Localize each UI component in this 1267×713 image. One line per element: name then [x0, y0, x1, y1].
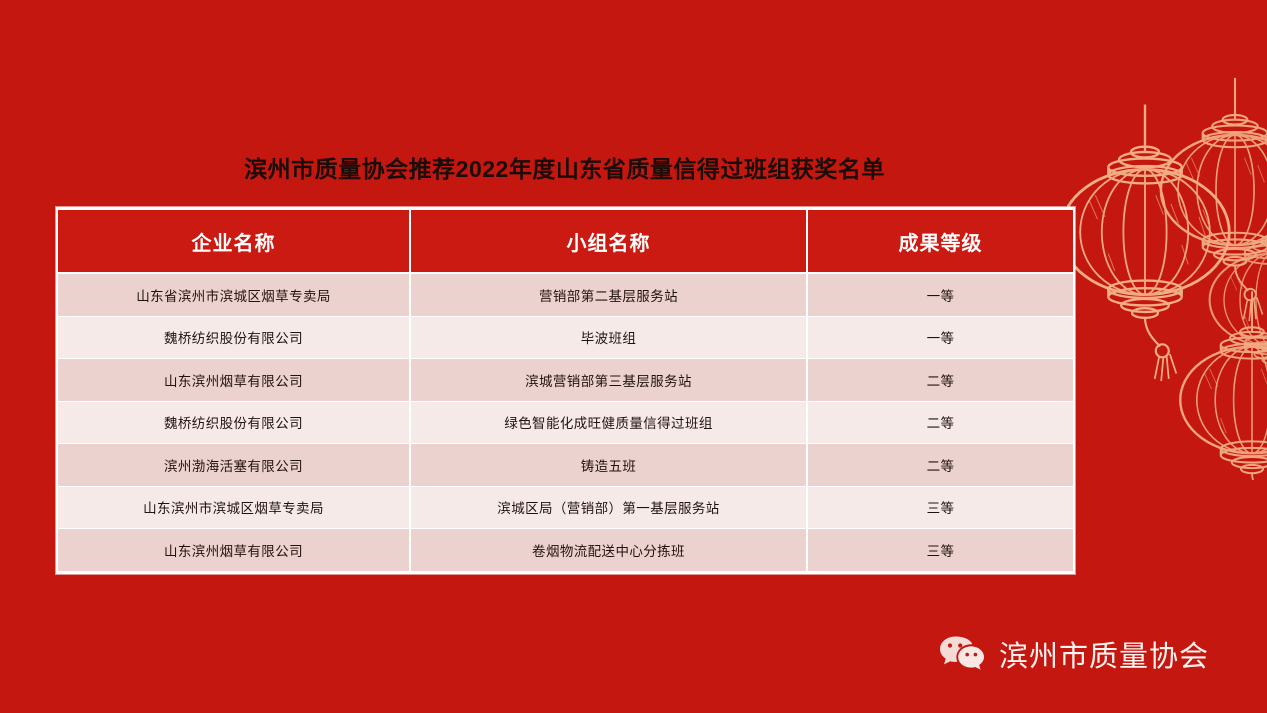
cell-team: 卷烟物流配送中心分拣班 — [410, 529, 807, 573]
cell-team: 营销部第二基层服务站 — [410, 273, 807, 316]
table-body: 山东省滨州市滨城区烟草专卖局 营销部第二基层服务站 一等 魏桥纺织股份有限公司 … — [57, 273, 1074, 572]
cell-team: 绿色智能化成旺健质量信得过班组 — [410, 401, 807, 444]
cell-grade: 二等 — [807, 401, 1074, 444]
award-list-table: 企业名称 小组名称 成果等级 山东省滨州市滨城区烟草专卖局 营销部第二基层服务站… — [56, 207, 1075, 574]
column-header-team: 小组名称 — [410, 209, 807, 274]
cell-team: 毕波班组 — [410, 316, 807, 359]
cell-grade: 三等 — [807, 486, 1074, 529]
cell-grade: 二等 — [807, 444, 1074, 487]
table-row: 山东滨州市滨城区烟草专卖局 滨城区局（营销部）第一基层服务站 三等 — [57, 486, 1074, 529]
cell-company: 魏桥纺织股份有限公司 — [57, 316, 410, 359]
cell-grade: 一等 — [807, 273, 1074, 316]
column-header-company: 企业名称 — [57, 209, 410, 274]
cell-company: 魏桥纺织股份有限公司 — [57, 401, 410, 444]
footer-brand: 滨州市质量协会 — [939, 633, 1209, 675]
cell-company: 滨州渤海活塞有限公司 — [57, 444, 410, 487]
table-row: 魏桥纺织股份有限公司 毕波班组 一等 — [57, 316, 1074, 359]
chinese-lanterns-decoration — [1067, 0, 1267, 480]
slide-canvas: 滨州市质量协会推荐2022年度山东省质量信得过班组获奖名单 企业名称 小组名称 … — [0, 0, 1267, 713]
cell-grade: 三等 — [807, 529, 1074, 573]
cell-company: 山东滨州烟草有限公司 — [57, 359, 410, 402]
cell-team: 滨城营销部第三基层服务站 — [410, 359, 807, 402]
brand-name: 滨州市质量协会 — [999, 633, 1209, 675]
cell-team: 滨城区局（营销部）第一基层服务站 — [410, 486, 807, 529]
table-row: 魏桥纺织股份有限公司 绿色智能化成旺健质量信得过班组 二等 — [57, 401, 1074, 444]
page-title: 滨州市质量协会推荐2022年度山东省质量信得过班组获奖名单 — [56, 150, 1073, 184]
table-row: 山东滨州烟草有限公司 卷烟物流配送中心分拣班 三等 — [57, 529, 1074, 573]
cell-company: 山东滨州市滨城区烟草专卖局 — [57, 486, 410, 529]
column-header-grade: 成果等级 — [807, 209, 1074, 274]
cell-grade: 二等 — [807, 359, 1074, 402]
cell-company: 山东省滨州市滨城区烟草专卖局 — [57, 273, 410, 316]
table-row: 滨州渤海活塞有限公司 铸造五班 二等 — [57, 444, 1074, 487]
cell-grade: 一等 — [807, 316, 1074, 359]
cell-company: 山东滨州烟草有限公司 — [57, 529, 410, 573]
wechat-icon — [939, 635, 985, 673]
table-row: 山东滨州烟草有限公司 滨城营销部第三基层服务站 二等 — [57, 359, 1074, 402]
cell-team: 铸造五班 — [410, 444, 807, 487]
table-header-row: 企业名称 小组名称 成果等级 — [57, 209, 1074, 274]
table-header: 企业名称 小组名称 成果等级 — [57, 209, 1074, 274]
table-row: 山东省滨州市滨城区烟草专卖局 营销部第二基层服务站 一等 — [57, 273, 1074, 316]
